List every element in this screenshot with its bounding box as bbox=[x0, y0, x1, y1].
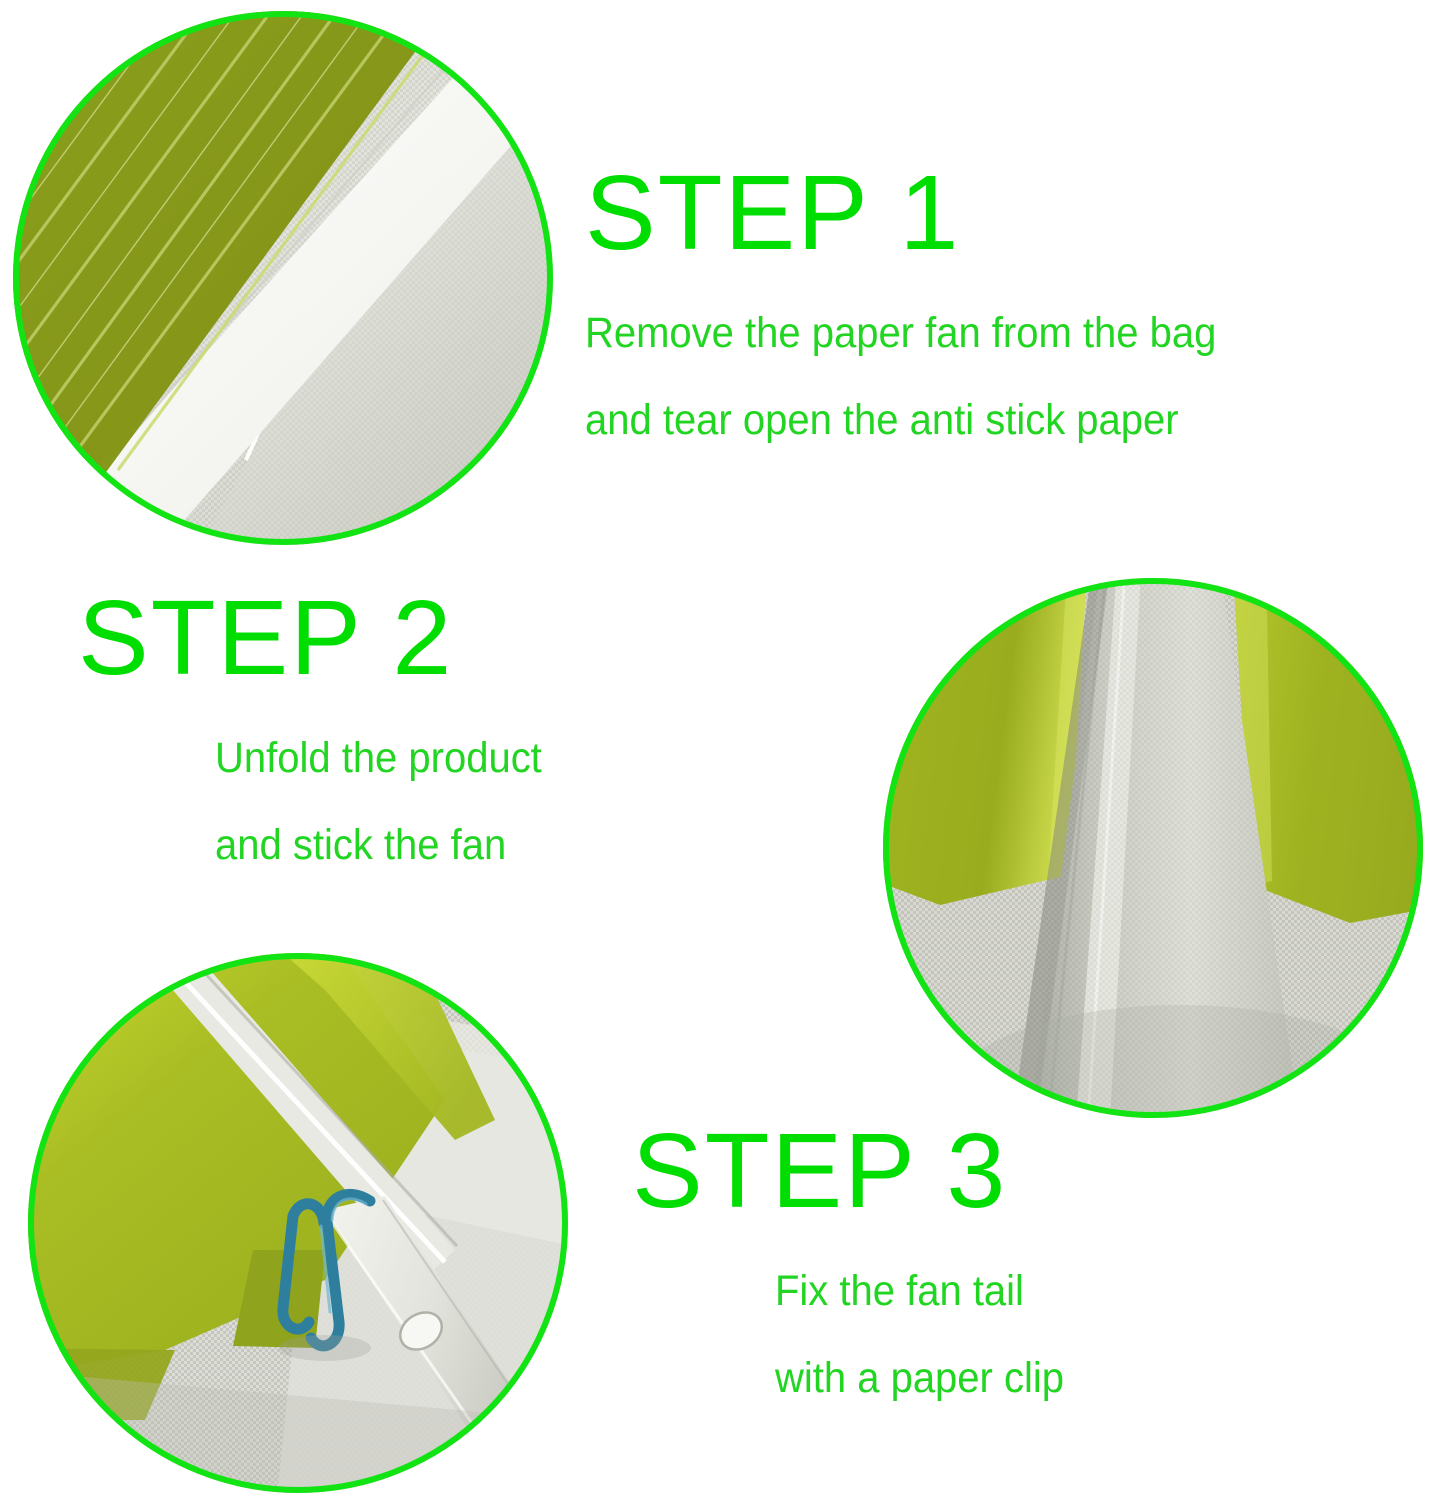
step-2-line-1: Unfold the product bbox=[215, 737, 740, 780]
step-3-heading: STEP 3 bbox=[632, 1118, 1410, 1224]
photo-step-2 bbox=[880, 575, 1426, 1121]
step-1-lines: Remove the paper fan from the bag and te… bbox=[585, 312, 1415, 442]
step-3-line-2: with a paper clip bbox=[775, 1357, 1366, 1400]
photo-step-3 bbox=[25, 950, 571, 1496]
step-2-lines: Unfold the product and stick the fan bbox=[60, 737, 780, 867]
step-2-heading: STEP 2 bbox=[78, 585, 780, 691]
photo-step-2-artwork bbox=[880, 575, 1426, 1121]
step-3-line-1: Fix the fan tail bbox=[775, 1270, 1366, 1313]
step-3-text-block: STEP 3 Fix the fan tail with a paper cli… bbox=[620, 1118, 1410, 1400]
photo-step-1 bbox=[10, 8, 556, 548]
photo-step-3-artwork bbox=[25, 950, 571, 1496]
step-2-line-2: and stick the fan bbox=[215, 824, 740, 867]
step-3-lines: Fix the fan tail with a paper clip bbox=[620, 1270, 1410, 1400]
step-2-text-block: STEP 2 Unfold the product and stick the … bbox=[60, 585, 780, 867]
step-1-text-block: STEP 1 Remove the paper fan from the bag… bbox=[585, 160, 1415, 442]
instruction-infographic: STEP 1 Remove the paper fan from the bag… bbox=[0, 0, 1437, 1500]
photo-step-1-artwork bbox=[10, 8, 556, 548]
step-1-heading: STEP 1 bbox=[585, 160, 1415, 266]
step-1-line-2: and tear open the anti stick paper bbox=[585, 399, 1357, 442]
step-1-line-1: Remove the paper fan from the bag bbox=[585, 312, 1357, 355]
